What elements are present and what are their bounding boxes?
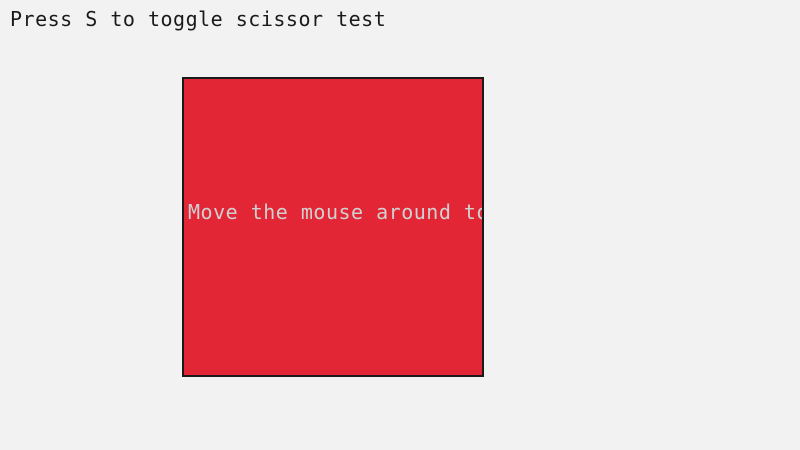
scissor-rectangle[interactable]: Move the mouse around to reveal this tex… bbox=[182, 77, 484, 377]
app-canvas: Press S to toggle scissor test Move the … bbox=[0, 0, 800, 450]
clipped-message-text: Move the mouse around to reveal this tex… bbox=[188, 200, 484, 224]
scissor-toggle-hint: Press S to toggle scissor test bbox=[10, 7, 386, 31]
